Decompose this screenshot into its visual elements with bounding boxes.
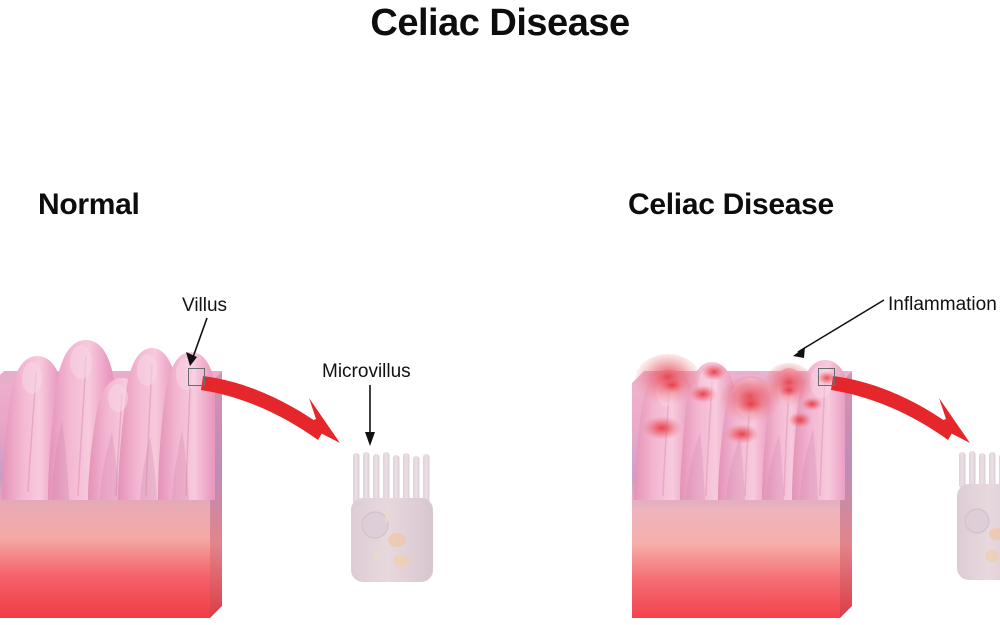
normal-enterocyte-cell (351, 452, 433, 582)
illustration-layer (0, 0, 1000, 625)
diagram-canvas: Celiac Disease Normal Celiac Disease (0, 0, 1000, 625)
annotation-inflammation: Inflammation (888, 294, 997, 316)
annotation-microvillus: Microvillus (322, 361, 411, 383)
celiac-microvilli (959, 451, 1000, 488)
normal-microvilli (353, 452, 430, 505)
zoom-marker-normal (188, 368, 205, 386)
celiac-tissue-block (632, 354, 858, 618)
annotation-villus: Villus (182, 295, 227, 317)
celiac-enterocyte-cell (957, 451, 1000, 580)
zoom-marker-celiac (818, 368, 835, 386)
